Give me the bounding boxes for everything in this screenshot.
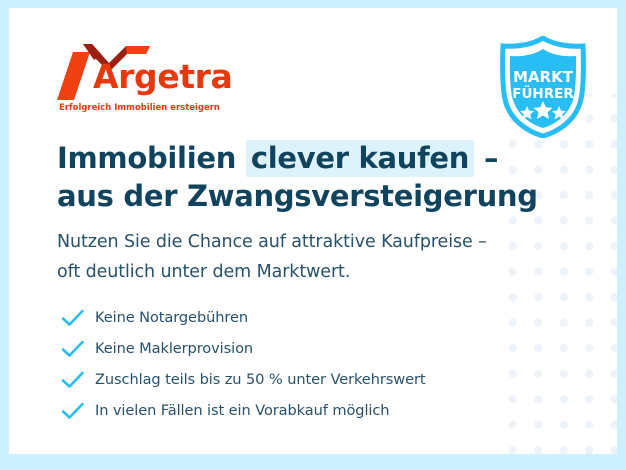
logo-mark: Argetra: [57, 44, 257, 100]
headline-highlight: clever kaufen: [246, 140, 474, 177]
check-icon: [61, 401, 85, 421]
list-item: Keine Maklerprovision: [61, 333, 531, 364]
market-leader-badge: MARKT FÜHRER: [496, 36, 590, 138]
list-item-label: Keine Notargebühren: [95, 309, 248, 326]
banner-canvas: Argetra Erfolgreich Immobilien ersteiger…: [9, 8, 617, 454]
promo-banner: Argetra Erfolgreich Immobilien ersteiger…: [0, 0, 626, 470]
list-item: In vielen Fällen ist ein Vorabkauf mögli…: [61, 395, 531, 426]
list-item: Keine Notargebühren: [61, 302, 531, 333]
list-item-label: In vielen Fällen ist ein Vorabkauf mögli…: [95, 402, 389, 419]
badge-line1-text: MARKT: [513, 68, 574, 86]
headline-part2: –: [474, 141, 498, 175]
page-subtitle: Nutzen Sie die Chance auf attraktive Kau…: [57, 227, 557, 287]
list-item-label: Keine Maklerprovision: [95, 340, 253, 357]
page-title: Immobilien clever kaufen – aus der Zwang…: [57, 139, 557, 215]
subheadline-line1: Nutzen Sie die Chance auf attraktive Kau…: [57, 232, 487, 252]
benefits-list: Keine Notargebühren Keine Maklerprovisio…: [61, 302, 531, 426]
logo-wordmark: Argetra: [93, 57, 232, 97]
check-icon: [61, 370, 85, 390]
check-icon: [61, 339, 85, 359]
list-item-label: Zuschlag teils bis zu 50 % unter Verkehr…: [95, 371, 425, 388]
brand-logo[interactable]: Argetra Erfolgreich Immobilien ersteiger…: [57, 44, 257, 112]
headline-part1: Immobilien: [57, 141, 246, 175]
list-item: Zuschlag teils bis zu 50 % unter Verkehr…: [61, 364, 531, 395]
subheadline-line2: oft deutlich unter dem Marktwert.: [57, 262, 350, 282]
badge-line2-text: FÜHRER: [512, 84, 574, 102]
headline-line2: aus der Zwangsversteigerung: [57, 179, 538, 213]
check-icon: [61, 308, 85, 328]
